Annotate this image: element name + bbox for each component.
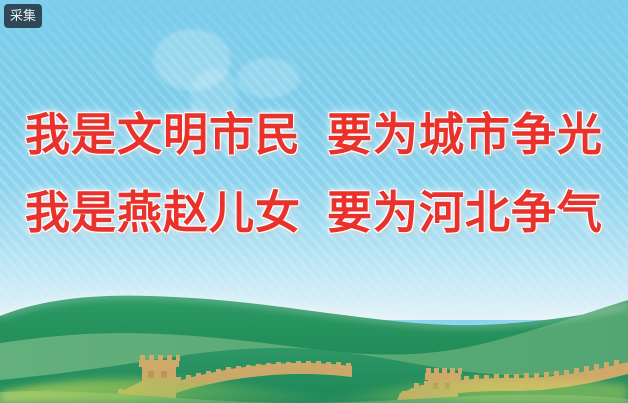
headline-line-2: 我是燕赵儿女要为河北争气	[0, 174, 628, 252]
headline-line-2-right: 要为河北争气	[327, 187, 603, 238]
headline-line-1-right: 要为城市争光	[327, 109, 603, 160]
banner-screen: 我是文明市民要为城市争光 我是燕赵儿女要为河北争气 采集	[0, 0, 628, 403]
headline-line-1: 我是文明市民要为城市争光	[0, 96, 628, 174]
capture-button[interactable]: 采集	[4, 4, 42, 28]
headline-line-2-left: 我是燕赵儿女	[25, 187, 301, 238]
headline-block: 我是文明市民要为城市争光 我是燕赵儿女要为河北争气	[0, 96, 628, 252]
headline-line-1-left: 我是文明市民	[25, 109, 301, 160]
